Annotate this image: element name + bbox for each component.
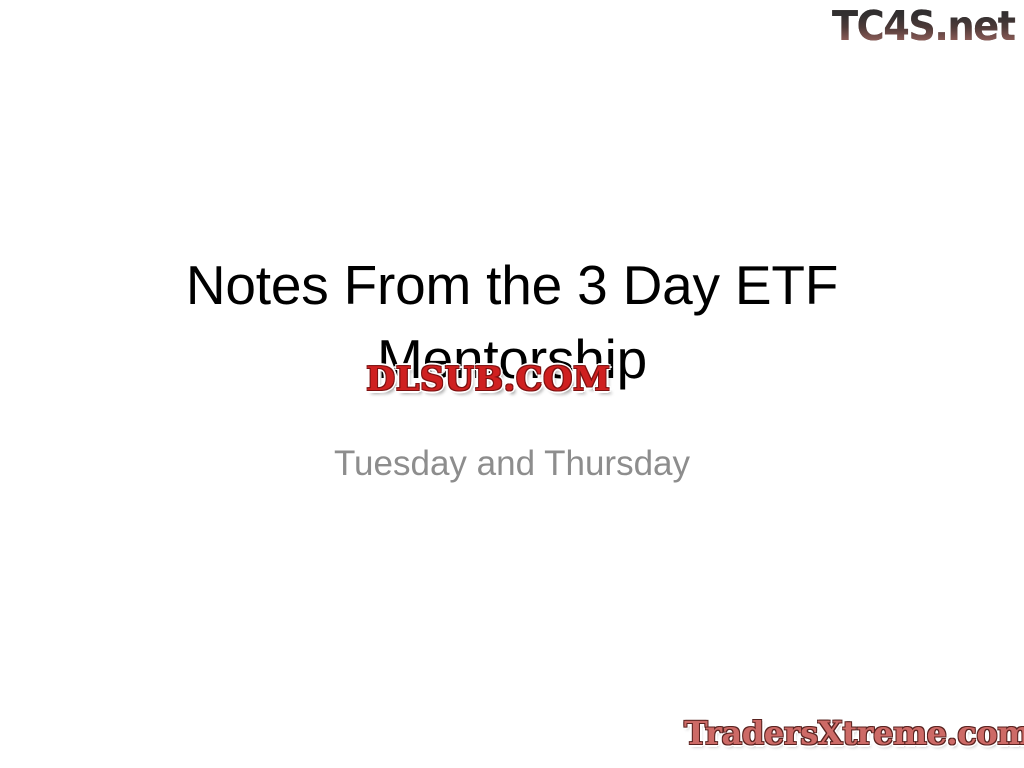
slide-subtitle: Tuesday and Thursday (112, 442, 912, 486)
tc4s-net-logo-watermark: TC4S.net (832, 2, 1015, 50)
presentation-slide: Notes From the 3 Day ETF Mentorship Tues… (0, 0, 1024, 768)
tradersxtreme-com-watermark: TradersXtreme.com (684, 712, 1024, 754)
dlsub-com-watermark: DLSUB.COM (366, 358, 611, 400)
subtitle-placeholder: Tuesday and Thursday (112, 442, 912, 486)
